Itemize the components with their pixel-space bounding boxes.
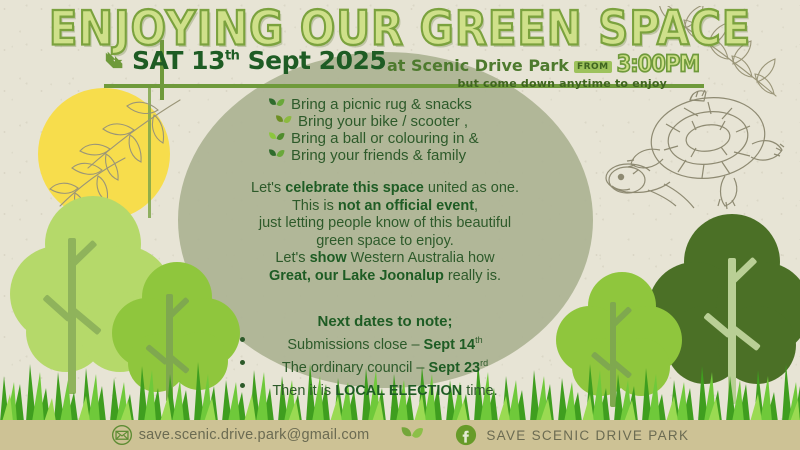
bullet-icon — [240, 360, 245, 365]
poster-canvas: ENJOYING OUR GREEN SPACE SAT 13th Sept 2… — [0, 0, 800, 450]
leaf-icon — [268, 98, 285, 111]
list-item: Bring a ball or colouring in & — [268, 130, 479, 147]
arrow-down-right-icon — [104, 48, 126, 70]
event-subnote: but come down anytime to enjoy — [457, 77, 667, 90]
bring-list: Bring a picnic rug & snacks Bring your b… — [268, 96, 479, 164]
venue-name: at Scenic Drive Park — [387, 56, 569, 75]
list-item: Submissions close – Sept 14th — [195, 331, 575, 354]
list-item: Bring your bike / scooter , — [268, 113, 479, 130]
event-date-text: SAT 13th Sept 2025 — [132, 48, 386, 73]
leaf-icon — [275, 115, 292, 128]
body-line-1: Let's celebrate this space united as one… — [195, 180, 575, 198]
bullet-icon — [240, 383, 245, 388]
event-date-line: SAT 13th Sept 2025 — [104, 48, 386, 73]
turtle-sketch — [604, 86, 794, 211]
list-item-label: Bring your friends & family — [291, 147, 466, 164]
footer-bar: save.scenic.drive.park@gmail.com SAVE SC… — [0, 420, 800, 450]
facebook-icon — [455, 424, 477, 446]
list-item: Bring a picnic rug & snacks — [268, 96, 479, 113]
list-item: Then it is LOCAL ELECTION time. — [195, 377, 575, 400]
body-line-4: green space to enjoy. — [195, 233, 575, 251]
leaf-icon — [268, 149, 285, 162]
footer-facebook-link[interactable]: SAVE SCENIC DRIVE PARK — [455, 424, 689, 446]
body-line-2: This is not an official event, — [195, 198, 575, 216]
olive-branch-sketch-left — [30, 88, 195, 213]
body-line-3: just letting people know of this beautif… — [195, 215, 575, 233]
event-time: 3:00PM — [617, 51, 700, 77]
from-badge: FROM — [574, 61, 612, 73]
next-dates-heading: Next dates to note; — [195, 313, 575, 330]
next-dates-list: Submissions close – Sept 14th The ordina… — [195, 331, 575, 399]
envelope-icon — [111, 424, 133, 446]
body-copy: Let's celebrate this space united as one… — [195, 180, 575, 285]
footer-email-contact[interactable]: save.scenic.drive.park@gmail.com — [111, 424, 370, 446]
event-venue-line: at Scenic Drive Park FROM 3:00PM — [387, 52, 699, 76]
footer-facebook-text: SAVE SCENIC DRIVE PARK — [486, 428, 689, 443]
list-item-label: Bring a picnic rug & snacks — [291, 96, 472, 113]
list-item-label: Bring your bike / scooter , — [298, 113, 468, 130]
body-line-6: Great, our Lake Joonalup really is. — [195, 268, 575, 286]
body-line-5: Let's show Western Australia how — [195, 250, 575, 268]
leaf-icon — [399, 426, 425, 444]
list-item: Bring your friends & family — [268, 147, 479, 164]
list-item-label: Bring a ball or colouring in & — [291, 130, 479, 147]
list-item: The ordinary council – Sept 23rd — [195, 354, 575, 377]
footer-email-text: save.scenic.drive.park@gmail.com — [139, 427, 370, 443]
bullet-icon — [240, 337, 245, 342]
leaf-icon — [268, 132, 285, 145]
